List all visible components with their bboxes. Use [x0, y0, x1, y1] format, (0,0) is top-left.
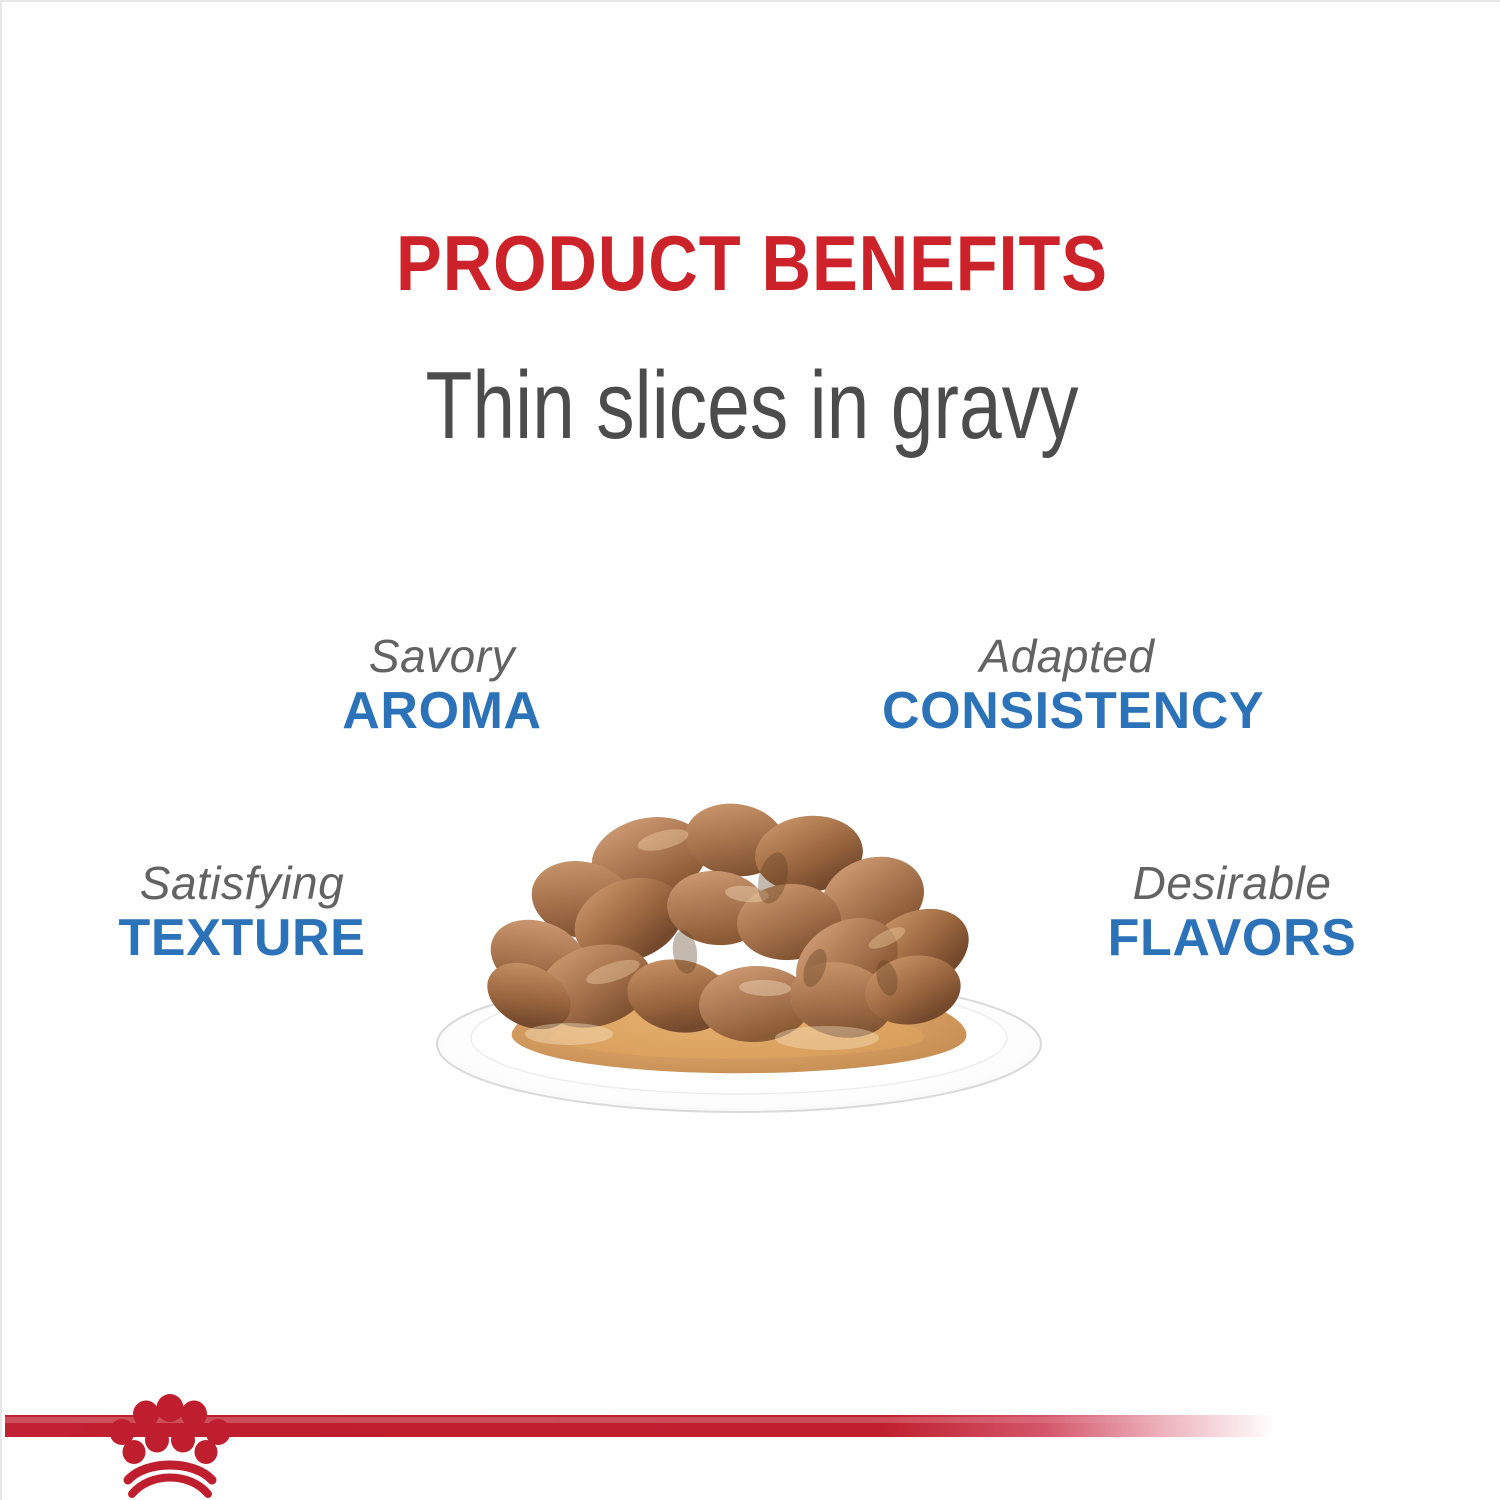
page-subtitle: Thin slices in gravy [152, 354, 1352, 458]
crown-arcs [128, 1465, 212, 1494]
benefit-consistency: Adapted CONSISTENCY [882, 630, 1252, 742]
benefit-aroma-adjective: Savory [297, 630, 587, 682]
product-benefits-infographic: PRODUCT BENEFITS Thin slices in gravy Sa… [0, 0, 1500, 1500]
benefit-flavors-noun: FLAVORS [1057, 909, 1407, 969]
page-title: PRODUCT BENEFITS [92, 224, 1412, 302]
product-food-image [417, 782, 1057, 1127]
crown-dots [110, 1394, 231, 1464]
benefit-aroma-noun: AROMA [297, 682, 587, 742]
royal-canin-crown-logo [94, 1384, 244, 1500]
benefit-consistency-noun: CONSISTENCY [882, 682, 1252, 742]
benefit-texture: Satisfying TEXTURE [62, 857, 422, 969]
benefit-aroma: Savory AROMA [297, 630, 587, 742]
footer [2, 1382, 1500, 1500]
benefit-texture-adjective: Satisfying [62, 857, 422, 909]
benefit-texture-noun: TEXTURE [62, 909, 422, 969]
benefit-flavors-adjective: Desirable [1057, 857, 1407, 909]
benefit-consistency-adjective: Adapted [882, 630, 1252, 682]
benefit-flavors: Desirable FLAVORS [1057, 857, 1407, 969]
